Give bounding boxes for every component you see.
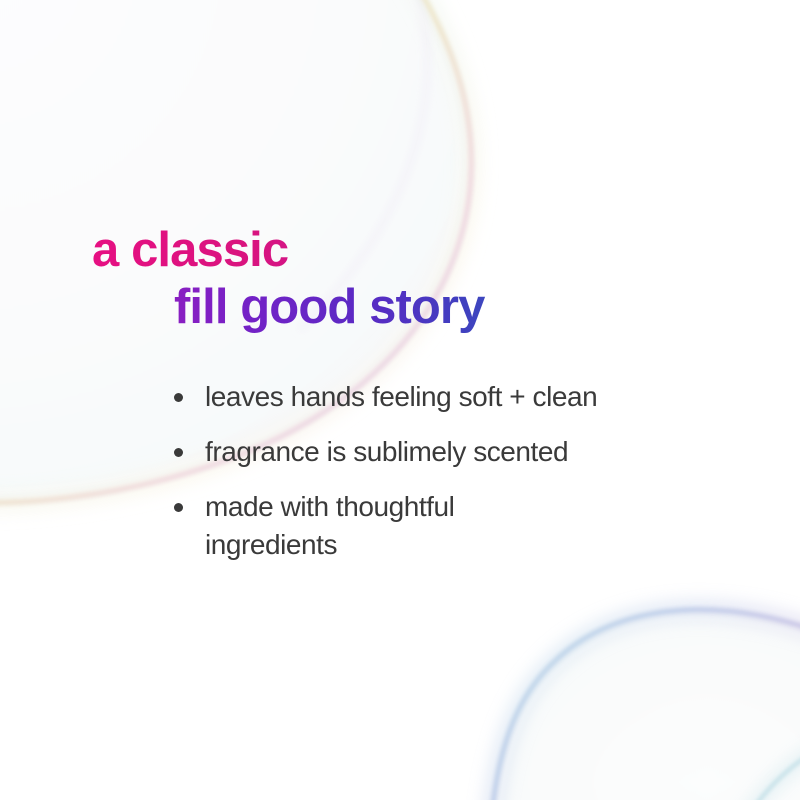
bullet-dot-icon <box>174 448 183 457</box>
bullet-dot-icon <box>174 393 183 402</box>
headline-line-1: a classic <box>92 222 732 279</box>
promo-content: a classic fill good story leaves hands f… <box>0 0 800 800</box>
list-item-label: fragrance is sublimely scented <box>205 433 768 471</box>
headline-line-2: fill good story <box>174 279 732 336</box>
promo-graphic-canvas: a classic fill good story leaves hands f… <box>0 0 800 800</box>
bullet-dot-icon <box>174 503 183 512</box>
headline: a classic fill good story <box>92 222 732 336</box>
list-item: made with thoughtful ingredients <box>168 488 768 564</box>
list-item: leaves hands feeling soft + clean <box>168 378 768 416</box>
benefits-list: leaves hands feeling soft + clean fragra… <box>168 378 768 564</box>
list-item-label: made with thoughtful ingredients <box>205 488 585 564</box>
list-item-label: leaves hands feeling soft + clean <box>205 378 768 416</box>
list-item: fragrance is sublimely scented <box>168 433 768 471</box>
